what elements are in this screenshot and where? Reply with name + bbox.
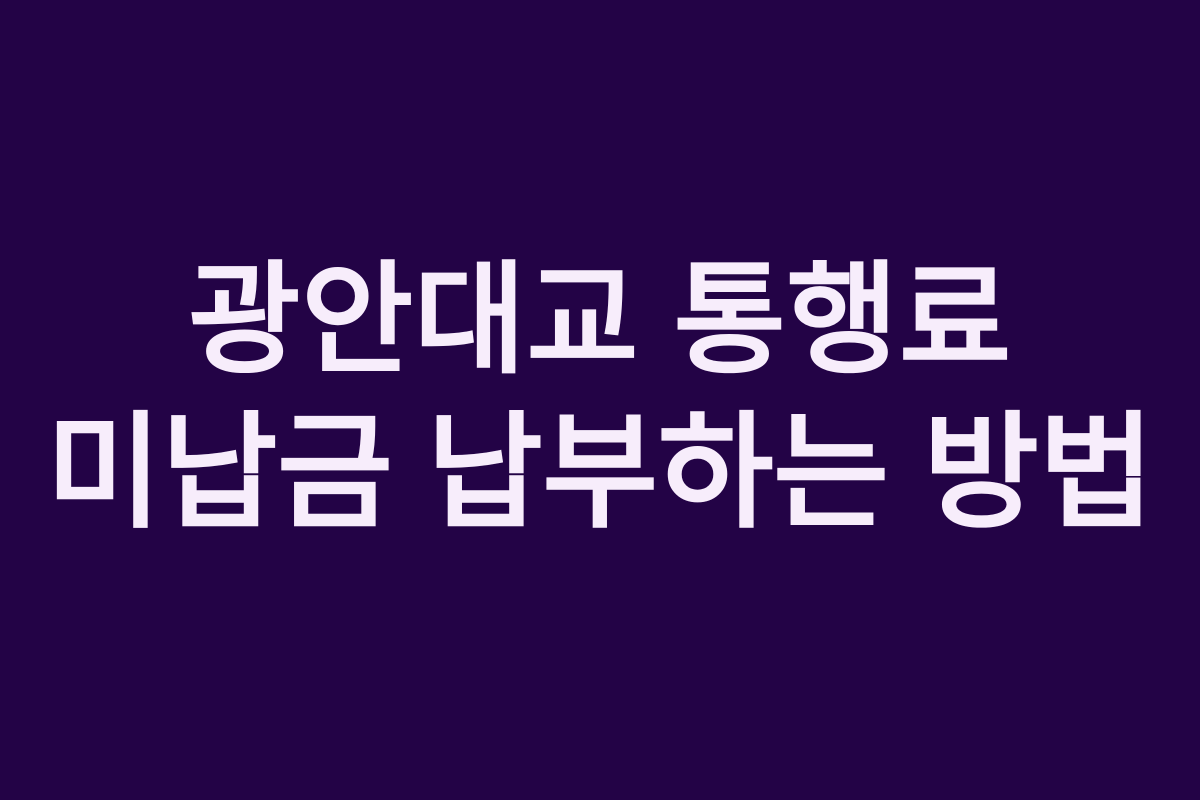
title-card: 광안대교 통행료 미납금 납부하는 방법 [0, 0, 1200, 800]
title-line-1: 광안대교 통행료 [16, 245, 1184, 395]
page-title: 광안대교 통행료 미납금 납부하는 방법 [0, 245, 1200, 550]
title-line-2: 미납금 납부하는 방법 [16, 396, 1184, 551]
